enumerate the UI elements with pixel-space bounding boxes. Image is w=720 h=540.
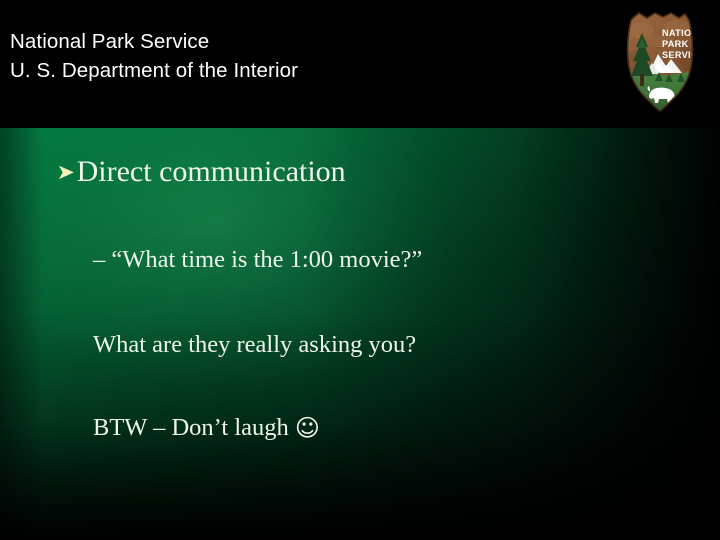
bullet-level2-text-quote: – “What time is the 1:00 movie?” [93, 245, 422, 275]
logo-text-service: SERVICE [662, 50, 701, 60]
logo-wordmark: NATIONAL PARK SERVICE [662, 28, 701, 60]
nps-arrowhead-logo: NATIONAL PARK SERVICE [619, 11, 701, 112]
bullet-level2-text-question: What are they really asking you? [93, 330, 416, 360]
header-titles: National Park Service U. S. Department o… [10, 27, 298, 85]
department-name: U. S. Department of the Interior [10, 56, 298, 85]
bullet-level2-text-btw: BTW – Don’t laugh ☺ [93, 412, 320, 443]
arrow-bullet-icon: ➤ [57, 162, 75, 183]
bullet-item-level1: ➤ Direct communication [57, 155, 346, 189]
agency-name: National Park Service [10, 27, 298, 56]
btw-text: BTW – Don’t laugh [93, 414, 295, 441]
logo-text-national: NATIONAL [662, 28, 701, 38]
logo-text-park: PARK [662, 39, 689, 49]
nps-arrowhead-svg: NATIONAL PARK SERVICE [619, 11, 701, 112]
bullet-level1-text: Direct communication [77, 155, 346, 189]
arrowhead-shape: NATIONAL PARK SERVICE [619, 11, 701, 112]
smiley-face-icon: ☺ [295, 414, 320, 442]
presentation-slide: ➤ Direct communication – “What time is t… [0, 0, 720, 540]
slide-content: ➤ Direct communication – “What time is t… [0, 128, 720, 540]
